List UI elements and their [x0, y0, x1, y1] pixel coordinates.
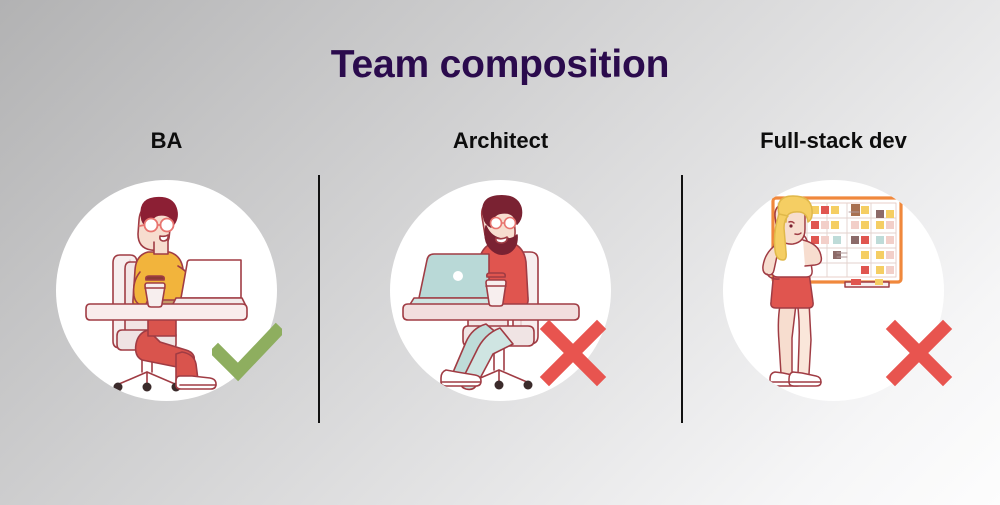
slide-canvas: Team composition BA: [0, 0, 1000, 505]
column-architect: Architect: [334, 0, 667, 505]
column-header-fullstack-dev: Full-stack dev: [667, 130, 1000, 152]
column-divider-1: [318, 175, 320, 423]
cross-mark-icon: [538, 318, 608, 388]
columns-container: BA: [0, 0, 1000, 505]
cross-mark-icon: [884, 318, 954, 388]
verdict-mark-fullstack-dev: [884, 318, 954, 388]
column-divider-2: [681, 175, 683, 423]
column-fullstack-dev: Full-stack dev: [667, 0, 1000, 505]
verdict-mark-architect: [538, 318, 608, 388]
verdict-mark-ba: [212, 318, 282, 388]
check-mark-icon: [212, 318, 282, 388]
column-header-ba: BA: [0, 130, 333, 152]
column-ba: BA: [0, 0, 333, 505]
column-header-architect: Architect: [334, 130, 667, 152]
